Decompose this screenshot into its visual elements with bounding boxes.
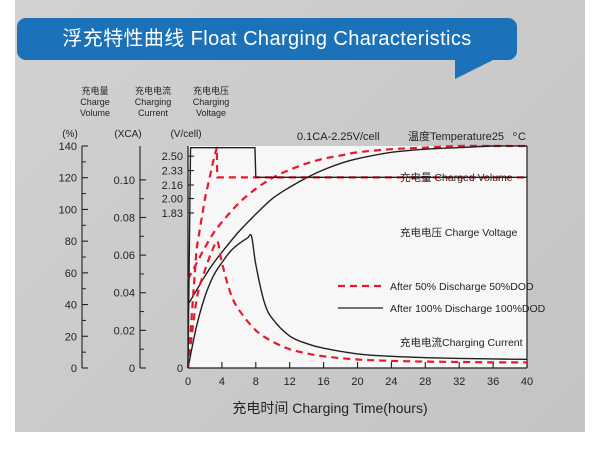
x-tick-label: 24 xyxy=(385,376,397,388)
y-tick-label: 0 xyxy=(177,363,183,375)
annotation-charging-current: 充电电流Charging Current xyxy=(400,336,523,349)
y-axis-charge-volume: 020406080100120140 xyxy=(59,141,88,375)
y-tick-label: 0.04 xyxy=(114,288,135,300)
x-tick-label: 40 xyxy=(521,376,533,388)
y-tick-label: 100 xyxy=(59,204,77,216)
banner-tail-icon xyxy=(455,59,495,79)
y-tick-label: 0.10 xyxy=(114,175,135,187)
y-tick-label: 2.00 xyxy=(162,194,183,206)
condition-charge-rate: 0.1CA-2.25V/cell xyxy=(297,131,380,143)
x-tick-label: 12 xyxy=(284,376,296,388)
y-axis-charging-current: 00.020.040.060.080.10 xyxy=(114,146,146,375)
y-tick-label: 0 xyxy=(129,363,135,375)
y-tick-label: 60 xyxy=(65,268,77,280)
x-tick-label: 32 xyxy=(453,376,465,388)
y-tick-label: 2.16 xyxy=(162,180,183,192)
legend-label-100dod: After 100% Discharge 100%DOD xyxy=(390,303,546,315)
y-tick-label: 140 xyxy=(59,141,77,153)
y-tick-label: 1.83 xyxy=(162,208,183,220)
annotation-charged-volume: 充电量 Charged Volume xyxy=(400,171,513,184)
x-tick-label: 36 xyxy=(487,376,499,388)
y-tick-label: 0.08 xyxy=(114,212,135,224)
legend-label-50dod: After 50% Discharge 50%DOD xyxy=(390,281,534,293)
y-tick-label: 2.50 xyxy=(162,151,183,163)
annotation-charge-voltage: 充电电压 Charge Voltage xyxy=(400,226,517,239)
y-tick-label: 0.02 xyxy=(114,325,135,337)
x-tick-label: 20 xyxy=(351,376,363,388)
y-tick-label: 120 xyxy=(59,173,77,185)
x-tick-label: 8 xyxy=(253,376,259,388)
screenshot-root: 浮充特性曲线 Float Charging Characteristics 充电… xyxy=(0,0,600,451)
y-tick-label: 2.33 xyxy=(162,166,183,178)
x-tick-label: 28 xyxy=(419,376,431,388)
x-tick-label: 0 xyxy=(185,376,191,388)
header-banner: 浮充特性曲线 Float Charging Characteristics xyxy=(17,18,517,60)
y-tick-label: 0 xyxy=(71,363,77,375)
float-charging-plot: 0.1CA-2.25V/cell 温度Temperature25 o C 020… xyxy=(0,78,600,398)
chart-container: 充电量 Charge Volume 充电电流 Charging Current … xyxy=(0,78,600,432)
y-tick-label: 80 xyxy=(65,236,77,248)
x-tick-label: 4 xyxy=(219,376,225,388)
page-title: 浮充特性曲线 Float Charging Characteristics xyxy=(17,18,517,60)
y-tick-label: 0.06 xyxy=(114,250,135,262)
x-axis-title: 充电时间 Charging Time(hours) xyxy=(140,398,520,418)
y-tick-label: 40 xyxy=(65,300,77,312)
condition-temperature-unit: C xyxy=(518,131,526,143)
y-tick-label: 20 xyxy=(65,331,77,343)
x-tick-label: 16 xyxy=(317,376,329,388)
condition-temperature: 温度Temperature25 xyxy=(408,129,504,143)
degree-icon: o xyxy=(513,131,517,138)
